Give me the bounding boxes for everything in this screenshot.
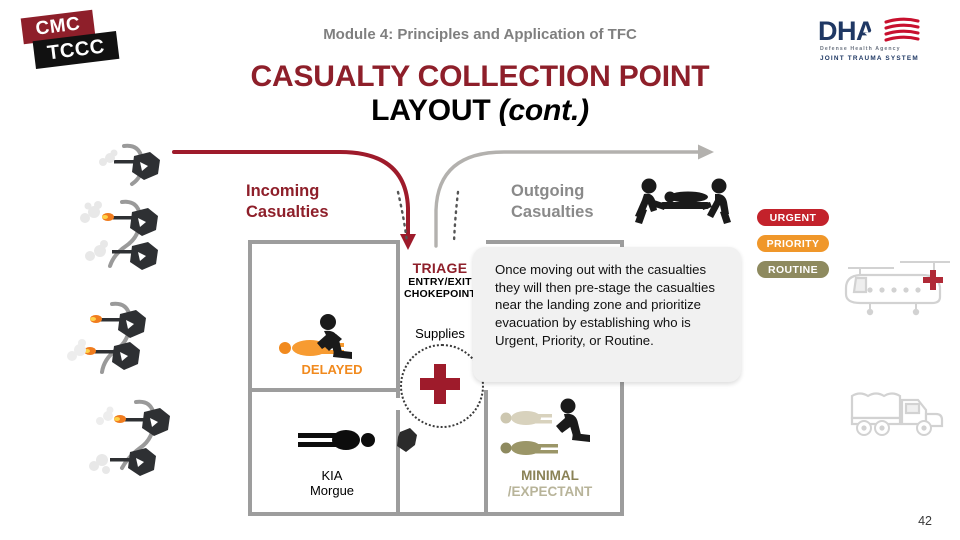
wall-top-left [248,240,398,244]
supplies-label: Supplies [396,326,484,341]
minimal-label-line2: /EXPECTANT [480,484,620,500]
room-label-minimal-expectant: MINIMAL /EXPECTANT [480,468,620,500]
debris-blob-icon [394,426,420,454]
red-cross-icon-bar [420,378,460,390]
page-number: 42 [918,514,932,528]
military-truck-icon [840,382,952,440]
callout-text: Once moving out with the casualties they… [495,261,721,349]
incoming-casualties-label: Incoming Casualties [246,181,329,223]
wall-bottom [248,512,624,516]
incoming-casualties-line2: Casualties [246,203,329,221]
outgoing-casualties-line1: Outgoing [511,182,584,200]
incoming-casualties-line1: Incoming [246,182,319,200]
outgoing-casualties-label: Outgoing Casualties [511,181,594,223]
badge-priority-label: PRIORITY [767,238,820,250]
evac-priority-badges: URGENT PRIORITY ROUTINE [757,209,835,287]
deceased-casualty-icon [290,422,376,458]
page-title-line2: LAYOUT [371,94,490,127]
kia-label-line1: KIA [322,468,343,483]
page-title-continued: (cont.) [499,94,589,127]
badge-priority[interactable]: PRIORITY [757,235,829,252]
info-callout-box: Once moving out with the casualties they… [473,247,741,382]
minimal-label-line1: MINIMAL [480,468,620,484]
wall-top-right [486,240,624,244]
badge-routine-label: ROUTINE [768,264,818,276]
module-subtitle: Module 4: Principles and Application of … [0,26,960,43]
badge-routine[interactable]: ROUTINE [757,261,829,278]
outgoing-casualties-line2: Casualties [511,203,594,221]
wall-left-outer [248,240,252,516]
wall-inner-horizontal [248,388,400,392]
page-title: CASUALTY COLLECTION POINT LAYOUT (cont.) [0,60,960,127]
kia-label-line2: Morgue [310,483,354,498]
page-title-line1: CASUALTY COLLECTION POINT [251,60,710,93]
room-label-delayed: DELAYED [262,362,402,377]
chokepoint-dotted-guides [390,190,480,245]
badge-urgent-label: URGENT [770,212,817,224]
supplies-circle [400,344,484,428]
stretcher-carry-icon [630,178,736,228]
room-label-kia-morgue: KIA Morgue [262,468,402,499]
medic-two-casualties-icon [500,398,612,470]
badge-urgent[interactable]: URGENT [757,209,829,226]
medic-treating-casualty-icon [278,310,388,364]
medevac-helicopter-icon [838,258,954,320]
slide-canvas: CMC TCCC DHA Defense Health Agency JOINT… [0,0,960,540]
dha-subtitle-agency: Defense Health Agency [820,46,901,52]
